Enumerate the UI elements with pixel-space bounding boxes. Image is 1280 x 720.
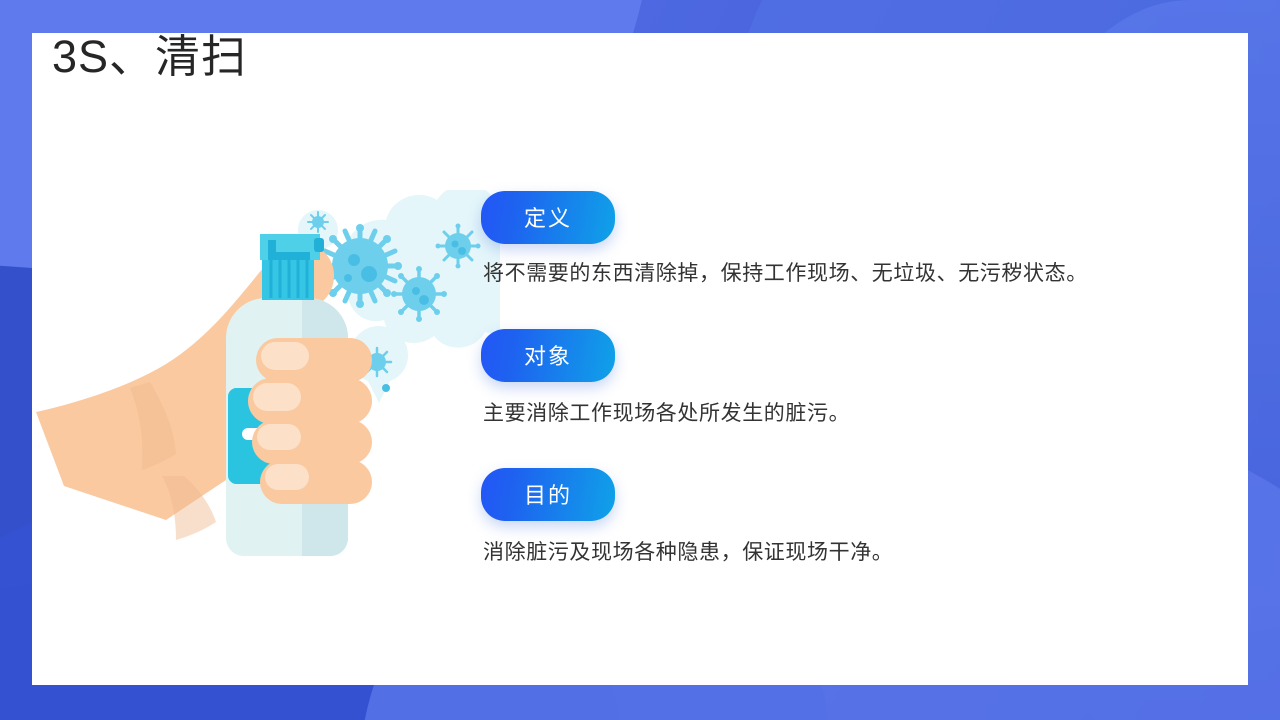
list-item: 对象 主要消除工作现场各处所发生的脏污。 [481, 329, 1211, 430]
badge-purpose[interactable]: 目的 [481, 468, 615, 521]
badge-definition[interactable]: 定义 [481, 191, 615, 244]
badge-object[interactable]: 对象 [481, 329, 615, 382]
list-item: 定义 将不需要的东西清除掉，保持工作现场、无垃圾、无污秽状态。 [481, 191, 1211, 290]
object-text: 主要消除工作现场各处所发生的脏污。 [483, 398, 1211, 430]
page-title: 3S、清扫 [52, 20, 247, 85]
purpose-text: 消除脏污及现场各种隐患，保证现场干净。 [483, 537, 1211, 569]
definition-list: 定义 将不需要的东西清除掉，保持工作现场、无垃圾、无污秽状态。 对象 主要消除工… [481, 191, 1211, 581]
illustration-hand-sanitizer [30, 190, 500, 590]
definition-text: 将不需要的东西清除掉，保持工作现场、无垃圾、无污秽状态。 [483, 258, 1211, 290]
fingers-icon [248, 338, 372, 504]
list-item: 目的 消除脏污及现场各种隐患，保证现场干净。 [481, 468, 1211, 569]
slide-canvas: 3S、清扫 [0, 0, 1280, 720]
